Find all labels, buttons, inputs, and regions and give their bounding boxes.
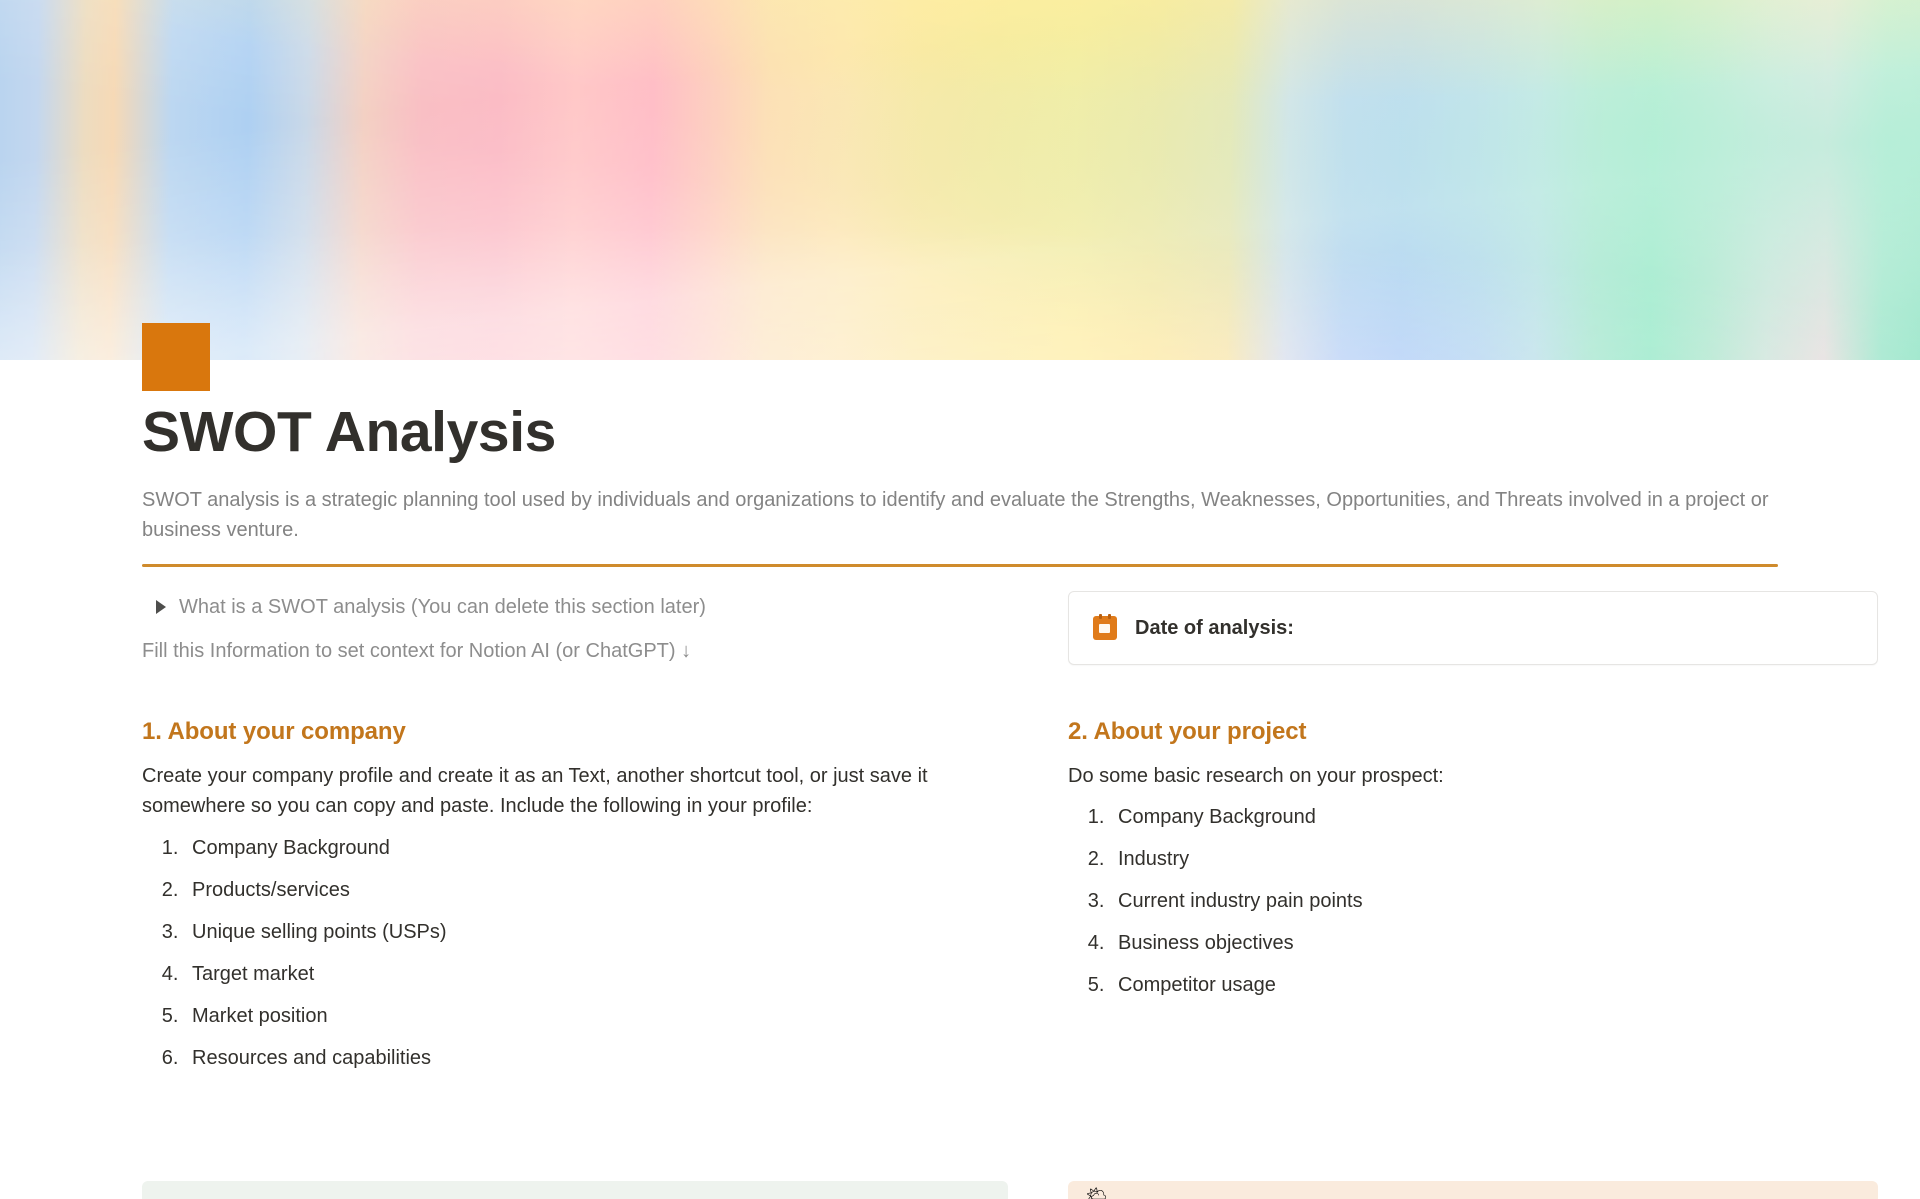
list-item[interactable]: Resources and capabilities xyxy=(184,1043,1008,1073)
triangle-right-icon[interactable] xyxy=(156,600,166,614)
notion-page: SWOT Analysis SWOT analysis is a strateg… xyxy=(0,0,1920,1199)
list-item[interactable]: Current industry pain points xyxy=(1110,886,1878,916)
page-description[interactable]: SWOT analysis is a strategic planning to… xyxy=(142,485,1778,546)
page-cover-image[interactable] xyxy=(0,0,1920,360)
page-content: SWOT Analysis SWOT analysis is a strateg… xyxy=(0,360,1920,1085)
section-about-your-company: 1. About your company Create your compan… xyxy=(142,716,1008,1084)
calendar-icon xyxy=(1093,616,1117,640)
weaknesses-emoji-icon: 🌤 xyxy=(1086,1187,1108,1199)
fill-info-note[interactable]: Fill this Information to set context for… xyxy=(142,636,1008,666)
weaknesses-callout[interactable]: 🌤 xyxy=(1068,1181,1878,1199)
section-heading[interactable]: 1. About your company xyxy=(142,716,1008,747)
section-about-your-project: 2. About your project Do some basic rese… xyxy=(1068,716,1878,1084)
top-row-right-column: Date of analysis: xyxy=(1068,591,1878,666)
sections-row: 1. About your company Create your compan… xyxy=(142,716,1778,1084)
cover-gradient-soft xyxy=(0,0,1920,360)
date-of-analysis-label[interactable]: Date of analysis: xyxy=(1135,614,1294,642)
toggle-block[interactable]: What is a SWOT analysis (You can delete … xyxy=(142,591,1008,623)
section-list: Company Background Products/services Uni… xyxy=(142,833,1008,1073)
page-title[interactable]: SWOT Analysis xyxy=(142,400,1778,466)
date-of-analysis-callout[interactable]: Date of analysis: xyxy=(1068,591,1878,665)
list-item[interactable]: Business objectives xyxy=(1110,928,1878,958)
list-item[interactable]: Industry xyxy=(1110,844,1878,874)
list-item[interactable]: Products/services xyxy=(184,875,1008,905)
list-item[interactable]: Company Background xyxy=(1110,802,1878,832)
top-row: What is a SWOT analysis (You can delete … xyxy=(142,591,1778,666)
section-list: Company Background Industry Current indu… xyxy=(1068,802,1878,1000)
toggle-label[interactable]: What is a SWOT analysis (You can delete … xyxy=(179,592,706,622)
top-row-left-column: What is a SWOT analysis (You can delete … xyxy=(142,591,1008,666)
section-paragraph[interactable]: Do some basic research on your prospect: xyxy=(1068,761,1878,792)
list-item[interactable]: Target market xyxy=(184,959,1008,989)
divider xyxy=(142,564,1778,567)
bottom-callouts-row: 🌤 xyxy=(0,1181,1920,1199)
list-item[interactable]: Competitor usage xyxy=(1110,970,1878,1000)
list-item[interactable]: Unique selling points (USPs) xyxy=(184,917,1008,947)
section-heading[interactable]: 2. About your project xyxy=(1068,716,1878,747)
list-item[interactable]: Company Background xyxy=(184,833,1008,863)
section-paragraph[interactable]: Create your company profile and create i… xyxy=(142,761,1008,822)
strengths-callout[interactable] xyxy=(142,1181,1008,1199)
list-item[interactable]: Market position xyxy=(184,1001,1008,1031)
page-icon[interactable] xyxy=(142,323,210,391)
